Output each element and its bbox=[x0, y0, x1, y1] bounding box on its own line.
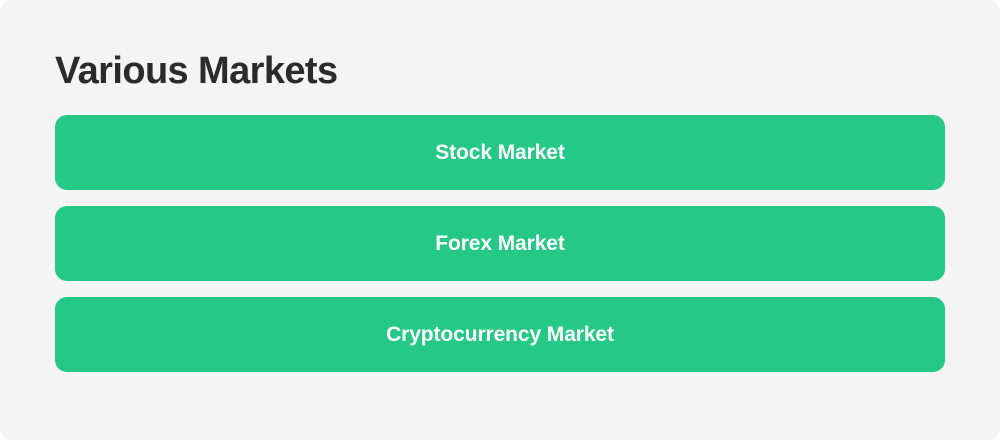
market-list: Stock Market Forex Market Cryptocurrency… bbox=[55, 115, 945, 372]
market-button-forex[interactable]: Forex Market bbox=[55, 206, 945, 281]
market-button-label: Cryptocurrency Market bbox=[386, 324, 614, 345]
market-button-stock[interactable]: Stock Market bbox=[55, 115, 945, 190]
market-button-label: Stock Market bbox=[435, 142, 565, 163]
page-title: Various Markets bbox=[55, 47, 337, 95]
market-button-cryptocurrency[interactable]: Cryptocurrency Market bbox=[55, 297, 945, 372]
market-button-label: Forex Market bbox=[435, 233, 565, 254]
markets-card: Various Markets Stock Market Forex Marke… bbox=[0, 0, 1000, 440]
